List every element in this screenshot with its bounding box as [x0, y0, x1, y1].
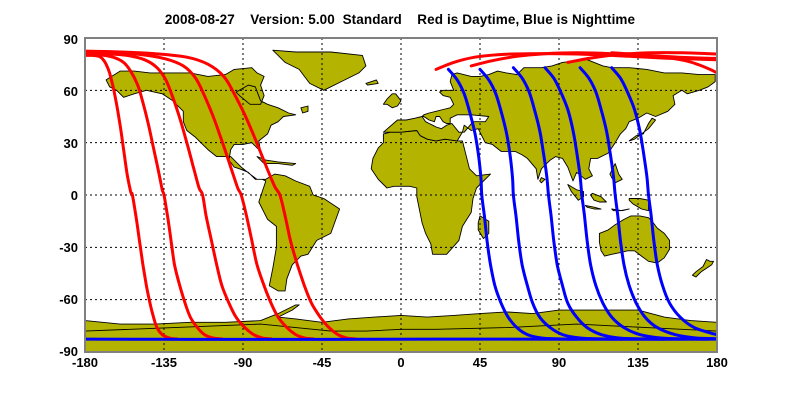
- world-map-plot: [0, 0, 800, 400]
- figure-canvas: 2008-08-27 Version: 5.00 Standard Red is…: [0, 0, 800, 400]
